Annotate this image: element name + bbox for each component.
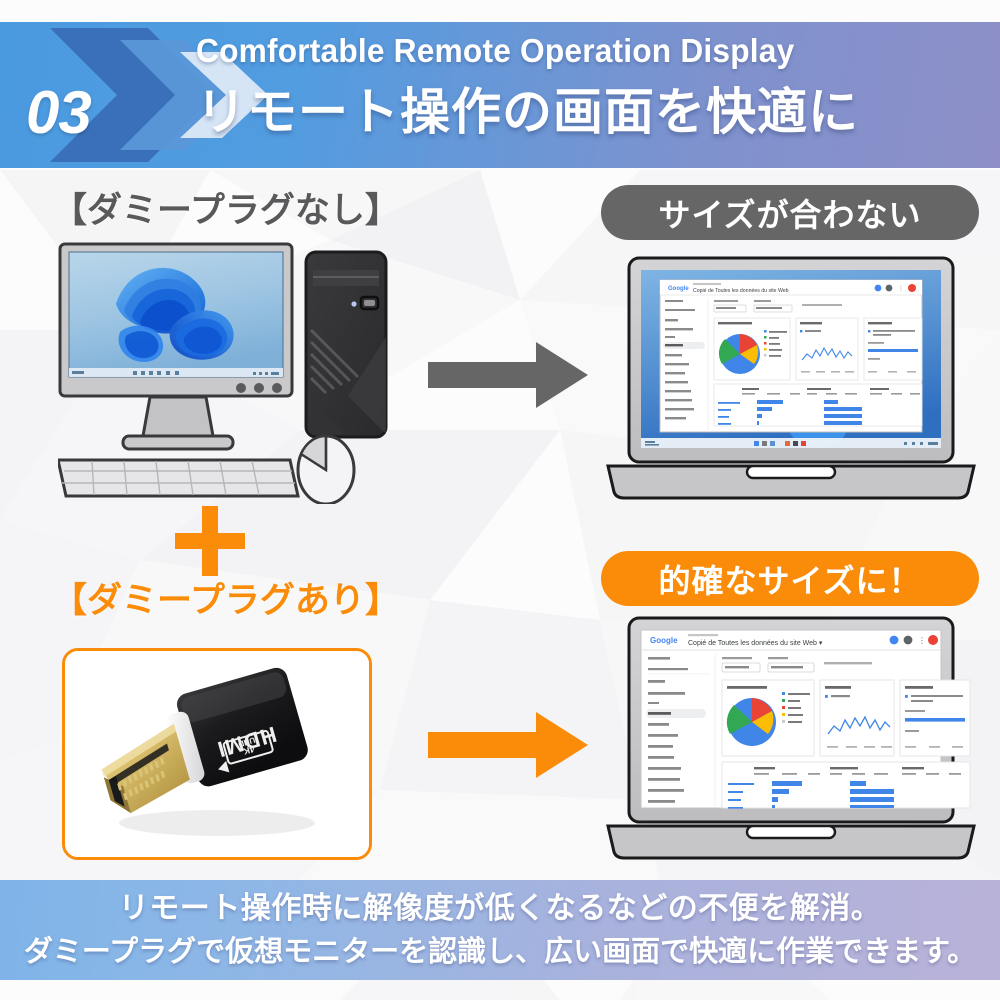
- label-without-dummy-plug: 【ダミープラグなし】: [52, 182, 400, 233]
- header-subtitle-en: Comfortable Remote Operation Display: [196, 32, 954, 70]
- badge-correct-size: 的確なサイズに！: [601, 551, 979, 606]
- header-banner: 03 Comfortable Remote Operation Display …: [0, 22, 1000, 168]
- section-number: 03: [26, 78, 91, 147]
- laptop-with-mismatched-window: Google Copié de Toutes les données du si…: [602, 252, 980, 502]
- label-with-dummy-plug: 【ダミープラグあり】: [52, 572, 400, 623]
- footer-line-1: リモート操作時に解像度が低くなるなどの不便を解消。: [119, 887, 882, 931]
- footer-line-2: ダミープラグで仮想モニターを認識し、広い画面で快適に作業できます。: [24, 931, 976, 973]
- plus-sign-icon: [175, 506, 245, 576]
- svg-text:Copié de Toutes les données du: Copié de Toutes les données du site Web …: [688, 640, 823, 647]
- badge-size-mismatch: サイズが合わない: [601, 185, 979, 240]
- product-photo-frame: HDMI 4K UHD: [62, 648, 372, 860]
- desktop-computer-illustration: [58, 242, 408, 504]
- laptop-with-fullscreen-window: Google Copié de Toutes les données du si…: [602, 612, 980, 862]
- footer-banner: リモート操作時に解像度が低くなるなどの不便を解消。 ダミープラグで仮想モニターを…: [0, 880, 1000, 980]
- svg-text:Google: Google: [650, 636, 678, 645]
- svg-text:Copié de Toutes les données du: Copié de Toutes les données du site Web: [693, 288, 789, 294]
- hdmi-dummy-plug-photo: HDMI 4K UHD: [65, 651, 369, 857]
- arrow-right-orange-icon: [428, 712, 588, 778]
- header-title-ja: リモート操作の画面を快適に: [196, 72, 986, 144]
- svg-text:⋮: ⋮: [918, 636, 926, 645]
- svg-text:⋮: ⋮: [898, 285, 904, 292]
- svg-text:Google: Google: [668, 286, 689, 292]
- arrow-right-gray-icon: [428, 342, 588, 408]
